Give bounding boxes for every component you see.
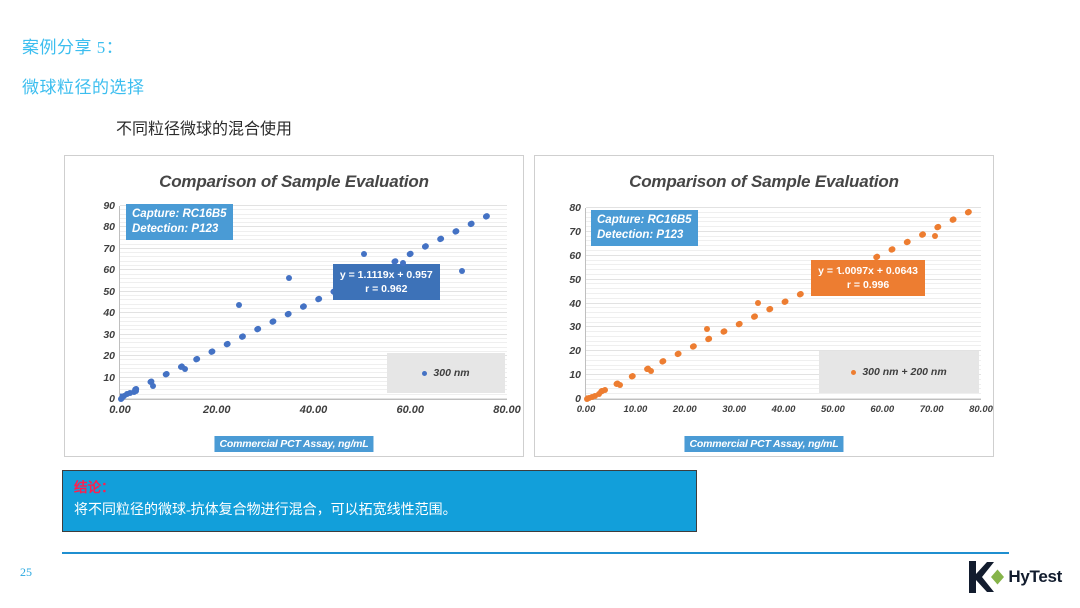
y-axis-tick-right: 20 xyxy=(569,345,581,357)
assay-annotation-right: Capture: RC16B5 Detection: P123 xyxy=(591,210,698,246)
x-axis-tick-right: 50.00 xyxy=(821,404,845,415)
capture-label-left: Capture: RC16B5 xyxy=(132,207,227,222)
page-subtitle: 不同粒径微球的混合使用 xyxy=(116,115,292,139)
y-axis-tick-right: 80 xyxy=(569,202,581,214)
equation-box-left: y = 1.1119x + 0.957 r = 0.962 xyxy=(333,264,440,300)
page-title-line-1: 案例分享 5： xyxy=(22,33,123,58)
y-axis-tick-right: 40 xyxy=(569,298,581,310)
y-axis-tick-left: 60 xyxy=(103,264,115,276)
y-axis-tick-left: 10 xyxy=(103,372,115,384)
conclusion-text: 将不同粒径的微球-抗体复合物进行混合，可以拓宽线性范围。 xyxy=(74,500,685,522)
chart-panel-left: Comparison of Sample Evaluation HyTest i… xyxy=(64,155,524,457)
plot-area-right: Capture: RC16B5 Detection: P123 y = 1.00… xyxy=(585,208,981,400)
data-point xyxy=(133,388,139,394)
data-point xyxy=(648,368,654,374)
y-axis-tick-right: 60 xyxy=(569,250,581,262)
equation-box-right: y = 1.0097x + 0.0643 r = 0.996 xyxy=(811,260,925,296)
x-axis-tick-right: 30.00 xyxy=(722,404,746,415)
x-axis-tick-left: 40.00 xyxy=(300,404,328,416)
detection-label-left: Detection: P123 xyxy=(132,222,227,237)
equation-text-left: y = 1.1119x + 0.957 xyxy=(340,269,433,281)
y-axis-tick-right: 70 xyxy=(569,226,581,238)
y-axis-tick-left: 90 xyxy=(103,200,115,212)
footer-divider xyxy=(62,552,1009,554)
data-point xyxy=(459,268,465,274)
x-axis-tick-left: 0.00 xyxy=(109,404,130,416)
data-point xyxy=(286,275,292,281)
y-axis-tick-left: 50 xyxy=(103,286,115,298)
data-point xyxy=(150,383,156,389)
page-number: 25 xyxy=(20,565,32,580)
legend-label-right: 300 nm + 200 nm xyxy=(862,366,946,378)
legend-marker-left xyxy=(422,371,427,376)
y-axis-tick-right: 30 xyxy=(569,321,581,333)
hytest-k-icon xyxy=(967,560,1007,594)
assay-annotation-left: Capture: RC16B5 Detection: P123 xyxy=(126,204,233,240)
data-point xyxy=(617,382,623,388)
legend-label-left: 300 nm xyxy=(433,367,469,379)
x-axis-tick-left: 20.00 xyxy=(203,404,231,416)
y-axis-tick-left: 20 xyxy=(103,350,115,362)
data-point xyxy=(833,271,839,277)
brand-name: HyTest xyxy=(1008,567,1062,587)
data-point xyxy=(400,260,406,266)
detection-label-right: Detection: P123 xyxy=(597,228,692,243)
data-point xyxy=(236,302,242,308)
x-axis-tick-right: 10.00 xyxy=(623,404,647,415)
hytest-logo: HyTest xyxy=(967,559,1062,595)
y-axis-tick-left: 40 xyxy=(103,307,115,319)
x-axis-tick-left: 60.00 xyxy=(396,404,424,416)
capture-label-right: Capture: RC16B5 xyxy=(597,213,692,228)
x-axis-tick-right: 70.00 xyxy=(920,404,944,415)
data-point xyxy=(873,262,879,268)
y-axis-tick-left: 30 xyxy=(103,329,115,341)
x-axis-tick-right: 80.00 xyxy=(969,404,993,415)
conclusion-label: 结论： xyxy=(74,478,685,498)
chart-title-left: Comparison of Sample Evaluation xyxy=(65,172,523,192)
page-title-line-2: 微球粒径的选择 xyxy=(22,73,145,98)
conclusion-box: 结论： 将不同粒径的微球-抗体复合物进行混合，可以拓宽线性范围。 xyxy=(62,470,697,532)
plot-area-left: Capture: RC16B5 Detection: P123 y = 1.11… xyxy=(119,206,507,400)
y-axis-tick-left: 80 xyxy=(103,221,115,233)
correlation-text-right: r = 0.996 xyxy=(818,278,918,292)
y-axis-tick-right: 50 xyxy=(569,274,581,286)
x-axis-title-right: Commercial PCT Assay, ng/mL xyxy=(684,436,843,452)
chart-panel-right: Comparison of Sample Evaluation HyTest i… xyxy=(534,155,994,457)
data-point xyxy=(602,387,608,393)
x-axis-tick-right: 20.00 xyxy=(673,404,697,415)
data-point xyxy=(704,326,710,332)
x-axis-tick-right: 60.00 xyxy=(870,404,894,415)
legend-right: 300 nm + 200 nm xyxy=(819,351,979,393)
data-point xyxy=(361,251,367,257)
x-axis-tick-left: 80.00 xyxy=(493,404,521,416)
x-axis-tick-right: 40.00 xyxy=(772,404,796,415)
data-point xyxy=(932,233,938,239)
legend-left: 300 nm xyxy=(387,353,505,393)
y-axis-tick-left: 70 xyxy=(103,243,115,255)
correlation-text-left: r = 0.962 xyxy=(340,282,433,296)
data-point xyxy=(755,300,761,306)
y-axis-tick-right: 10 xyxy=(569,369,581,381)
x-axis-title-left: Commercial PCT Assay, ng/mL xyxy=(214,436,373,452)
legend-marker-right xyxy=(851,370,856,375)
data-point xyxy=(182,366,188,372)
x-axis-tick-right: 0.00 xyxy=(577,404,596,415)
chart-title-right: Comparison of Sample Evaluation xyxy=(535,172,993,192)
